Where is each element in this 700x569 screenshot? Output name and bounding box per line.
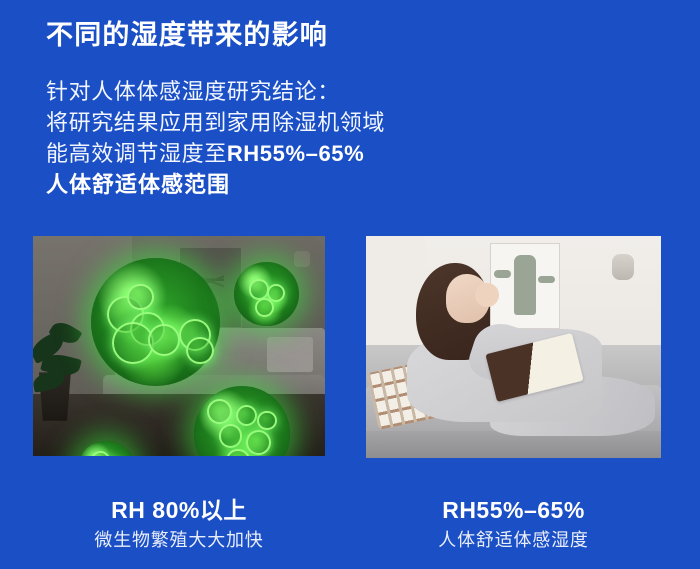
caption-title: RH55%–65%	[366, 496, 661, 524]
scene-microbe-room	[33, 236, 325, 456]
body-line-4: 人体舒适体感范围	[46, 169, 385, 200]
body-line-3-value: RH55%–65%	[227, 141, 364, 166]
page-title: 不同的湿度带来的影响	[46, 18, 328, 52]
caption-subtitle: 人体舒适体感湿度	[366, 527, 661, 553]
microbe-sphere-icon	[234, 262, 298, 326]
body-line-2: 将研究结果应用到家用除湿机领域	[46, 107, 385, 138]
microbe-sphere-icon	[91, 258, 219, 386]
cactus-icon	[514, 255, 536, 314]
caption-title: RH 80%以上	[33, 496, 325, 524]
wall-sensor-icon	[294, 251, 310, 267]
body-line-3-prefix: 能高效调节湿度至	[46, 141, 227, 166]
caption-comfort-humidity: RH55%–65% 人体舒适体感湿度	[366, 496, 661, 553]
wall-art-frame	[490, 243, 560, 329]
body-line-1: 针对人体体感湿度研究结论：	[46, 76, 385, 107]
photo-panel-high-humidity	[33, 236, 325, 456]
wall-sensor-icon	[612, 254, 634, 280]
humidity-comparison-poster: 不同的湿度带来的影响 针对人体体感湿度研究结论： 将研究结果应用到家用除湿机领域…	[0, 0, 700, 569]
caption-high-humidity: RH 80%以上 微生物繁殖大大加快	[33, 496, 325, 553]
sofa-cushion	[267, 337, 314, 372]
body-line-3: 能高效调节湿度至RH55%–65%	[46, 138, 385, 169]
person-hand	[475, 283, 499, 307]
scene-woman-reading	[366, 236, 661, 458]
photo-panel-comfort-humidity	[366, 236, 661, 458]
caption-subtitle: 微生物繁殖大大加快	[33, 527, 325, 553]
body-copy-block: 针对人体体感湿度研究结论： 将研究结果应用到家用除湿机领域 能高效调节湿度至RH…	[46, 76, 385, 200]
